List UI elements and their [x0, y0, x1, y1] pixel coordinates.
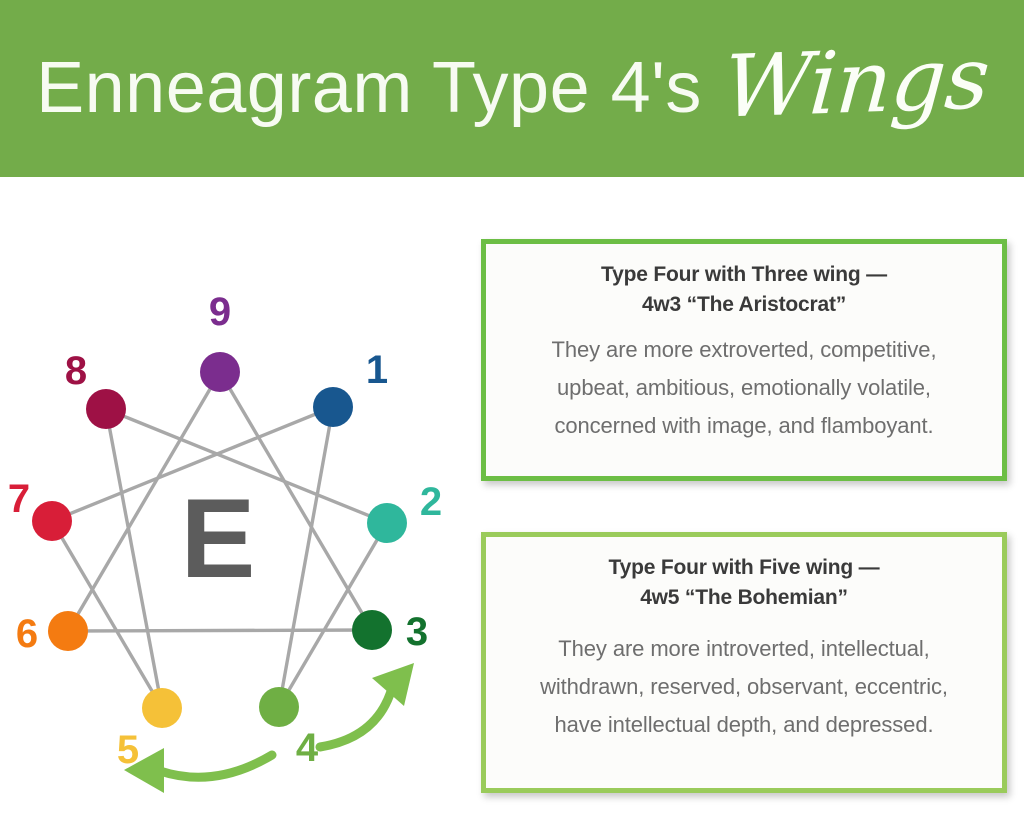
enneagram-node-3[interactable] [352, 610, 392, 650]
wing-card-4w5-title-line1: Type Four with Five wing — [609, 556, 880, 579]
enneagram-node-label-7: 7 [8, 477, 30, 521]
wing-card-4w3-title: Type Four with Three wing — 4w3 “The Ari… [508, 260, 980, 321]
enneagram-center-letter: E [181, 476, 256, 601]
wing-card-4w5-body-line2: withdrawn, reserved, observant, eccentri… [508, 668, 980, 706]
enneagram-node-label-4: 4 [296, 726, 319, 770]
page-title-main: Enneagram Type 4's [36, 52, 702, 124]
enneagram-node-label-6: 6 [16, 612, 38, 656]
wing-card-4w3-body-line3: concerned with image, and flamboyant. [508, 407, 980, 445]
wing-card-4w3-title-line1: Type Four with Three wing — [601, 263, 887, 286]
enneagram-node-7[interactable] [32, 501, 72, 541]
wing-card-4w3-body: They are more extroverted, competitive, … [508, 331, 980, 444]
page-title-script: Wings [721, 35, 992, 130]
enneagram-node-1[interactable] [313, 387, 353, 427]
enneagram-node-label-9: 9 [209, 290, 231, 334]
header-title-group: Enneagram Type 4's Wings [36, 40, 988, 126]
enneagram-node-8[interactable] [86, 389, 126, 429]
wing-card-4w3-body-line1: They are more extroverted, competitive, [508, 331, 980, 369]
wing-card-4w5-body-line3: have intellectual depth, and depressed. [508, 706, 980, 744]
enneagram-node-2[interactable] [367, 503, 407, 543]
enneagram-svg: 912345678 E [0, 185, 460, 805]
wing-card-4w3-body-line2: upbeat, ambitious, emotionally volatile, [508, 369, 980, 407]
enneagram-node-4[interactable] [259, 687, 299, 727]
enneagram-node-label-8: 8 [65, 349, 87, 393]
enneagram-wings-infographic: Enneagram Type 4's Wings 912345678 E Typ… [0, 0, 1024, 838]
wing-card-4w5-body-line1: They are more introverted, intellectual, [508, 630, 980, 668]
enneagram-node-6[interactable] [48, 611, 88, 651]
enneagram-node-5[interactable] [142, 688, 182, 728]
wing-card-4w5-title-line2: 4w5 “The Bohemian” [508, 583, 980, 613]
arrow-4-to-3-icon [320, 663, 414, 747]
enneagram-diagram: 912345678 E [0, 185, 460, 805]
wing-card-4w3: Type Four with Three wing — 4w3 “The Ari… [481, 239, 1007, 481]
wing-card-4w3-title-line2: 4w3 “The Aristocrat” [508, 290, 980, 320]
wing-card-4w5-body: They are more introverted, intellectual,… [508, 630, 980, 743]
enneagram-node-label-5: 5 [117, 728, 139, 772]
wing-card-4w5: Type Four with Five wing — 4w5 “The Bohe… [481, 532, 1007, 793]
wing-card-4w5-title: Type Four with Five wing — 4w5 “The Bohe… [508, 553, 980, 614]
enneagram-node-label-3: 3 [406, 610, 428, 654]
header-banner: Enneagram Type 4's Wings [0, 0, 1024, 177]
enneagram-node-label-1: 1 [366, 348, 388, 392]
arrow-4-to-5-icon [124, 748, 272, 793]
enneagram-triangle-edge [68, 630, 372, 631]
enneagram-node-label-2: 2 [420, 480, 442, 524]
enneagram-node-9[interactable] [200, 352, 240, 392]
